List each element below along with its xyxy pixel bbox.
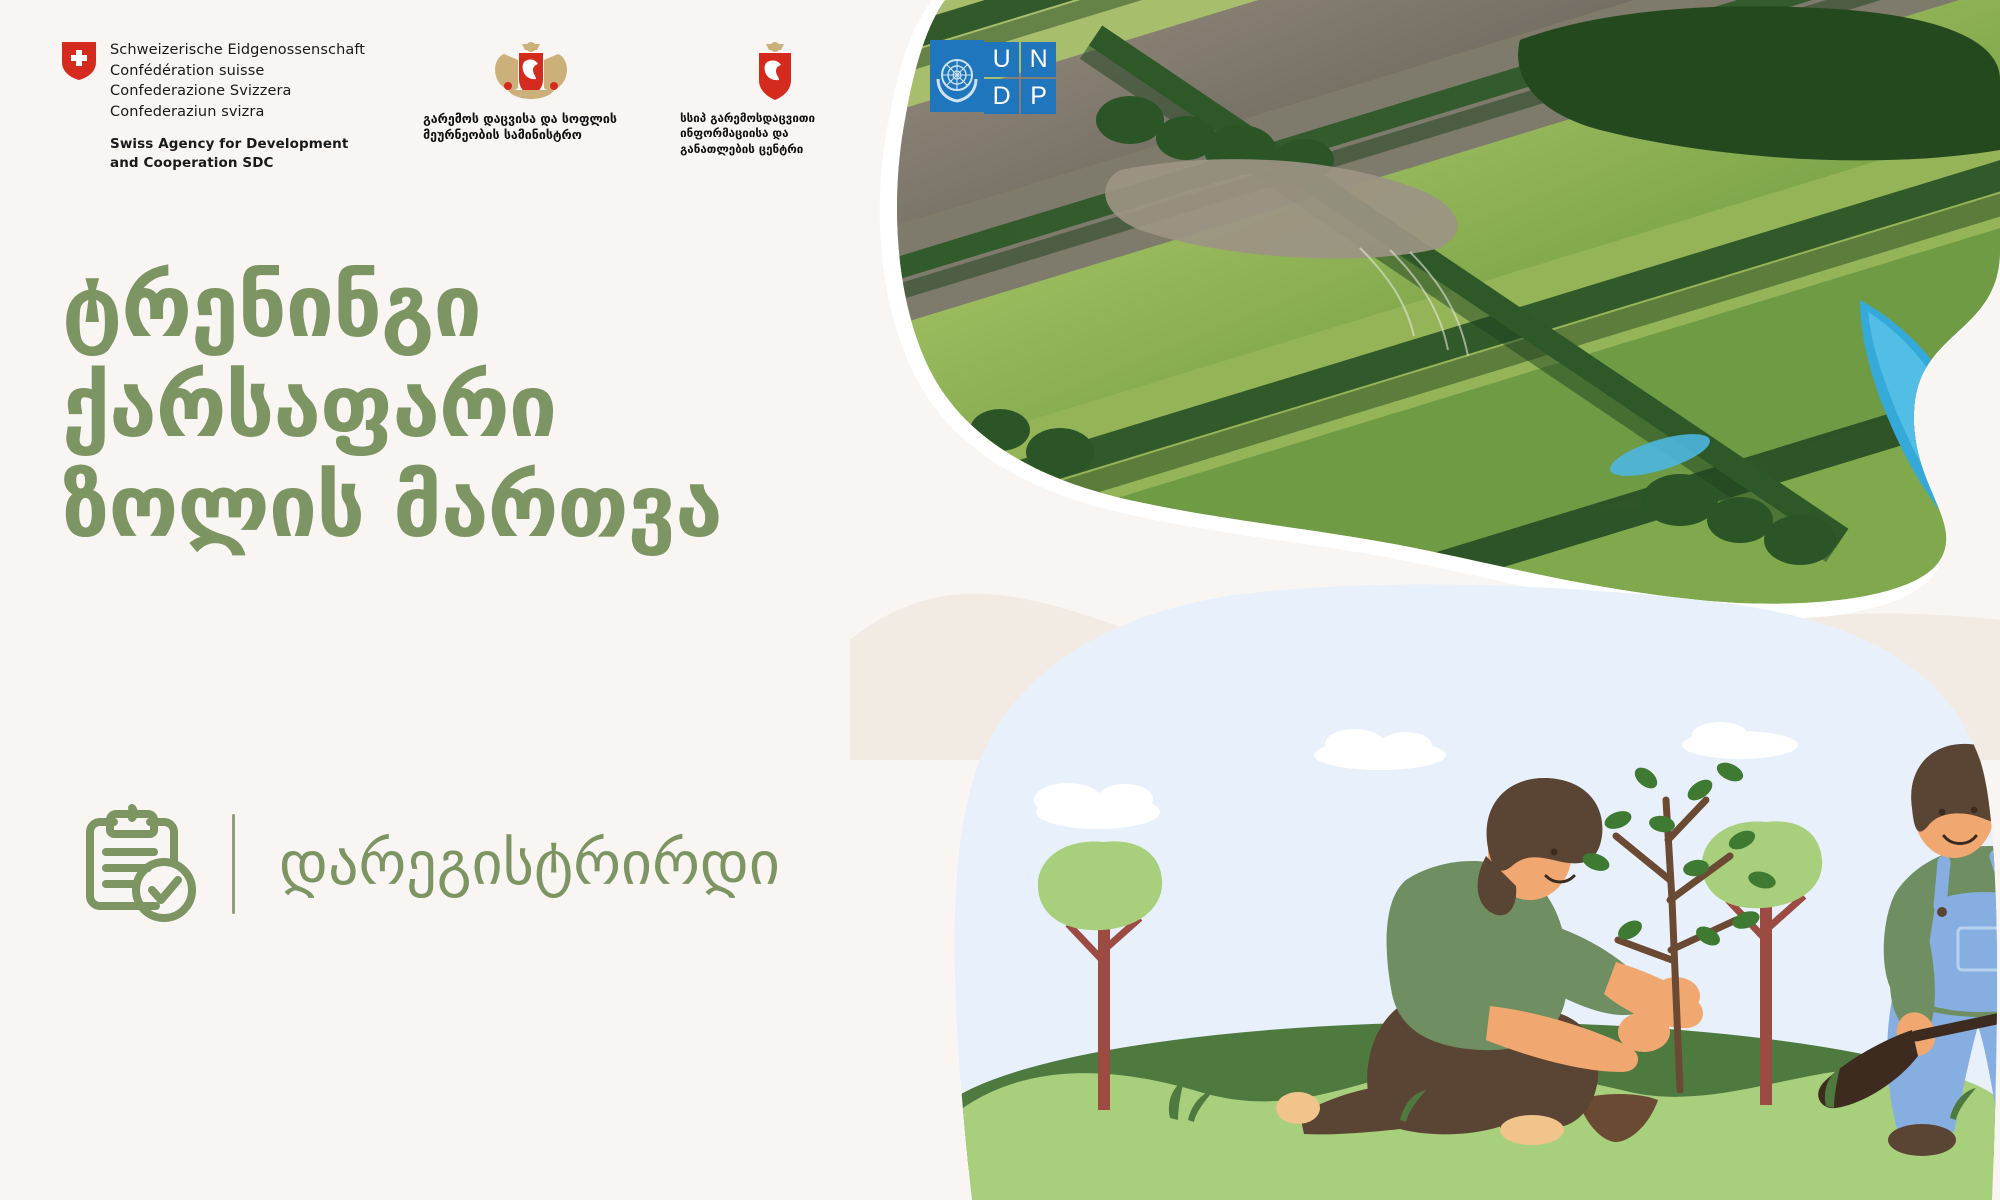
undp-letter-u: U xyxy=(984,42,1019,77)
logo-swiss-confederation: Schweizerische Eidgenossenschaft Confédé… xyxy=(62,40,365,172)
logo-ministry-environment-agriculture: გარემოს დაცვისა და სოფლის მეურნეობის სამ… xyxy=(423,40,638,144)
swiss-sdc-line-2: and Cooperation SDC xyxy=(110,154,365,172)
register-label[interactable]: დარეგისტრირდი xyxy=(279,829,780,899)
ministry-caption-1: გარემოს დაცვისა და სოფლის xyxy=(423,111,638,127)
partner-logo-bar: Schweizerische Eidgenossenschaft Confédé… xyxy=(62,40,1002,172)
register-cta[interactable]: დარეგისტრირდი xyxy=(72,800,780,928)
clipboard-check-icon xyxy=(72,800,200,928)
ministry-caption-2: მეურნეობის სამინისტრო xyxy=(423,127,638,143)
logo-environmental-information-education-centre: სსიპ გარემოსდაცვითი ინფორმაციისა და განა… xyxy=(680,40,870,157)
page-title: ტრენინგი ქარსაფარი ზოლის მართვა xyxy=(62,258,722,557)
tree-planting-illustration xyxy=(930,560,2000,1200)
centre-caption-2: ინფორმაციისა და xyxy=(680,126,870,141)
swiss-sdc-line-1: Swiss Agency for Development xyxy=(110,135,365,153)
undp-letter-p: P xyxy=(1021,79,1056,114)
swiss-line-4: Confederaziun svizra xyxy=(110,102,365,123)
artwork-panel xyxy=(700,0,2000,1200)
undp-letter-d: D xyxy=(984,79,1019,114)
poster-canvas: Schweizerische Eidgenossenschaft Confédé… xyxy=(0,0,2000,1200)
georgia-coat-of-arms-icon xyxy=(488,40,574,102)
georgia-shield-icon xyxy=(751,40,799,102)
swiss-line-3: Confederazione Svizzera xyxy=(110,81,365,102)
swiss-line-2: Confédération suisse xyxy=(110,61,365,82)
centre-caption-3: განათლების ცენტრი xyxy=(680,142,870,157)
swiss-shield-icon xyxy=(62,42,96,80)
logo-undp: U N D P xyxy=(930,40,1002,114)
undp-letter-n: N xyxy=(1021,42,1056,77)
centre-caption-1: სსიპ გარემოსდაცვითი xyxy=(680,111,870,126)
cta-divider xyxy=(232,814,235,914)
un-emblem-icon xyxy=(930,40,984,112)
swiss-line-1: Schweizerische Eidgenossenschaft xyxy=(110,40,365,61)
